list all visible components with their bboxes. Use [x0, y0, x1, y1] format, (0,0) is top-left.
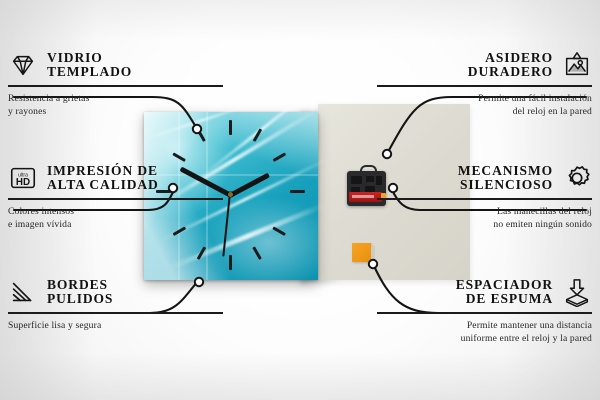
feature-title-line: DE ESPUMA	[456, 292, 553, 306]
feature-impresion-alta-calidad: ultra HD IMPRESIÓN DE ALTA CALIDAD Color…	[8, 163, 223, 231]
hanging-frame-icon	[562, 50, 592, 80]
feature-title-line: ESPACIADOR	[456, 278, 553, 292]
feature-asidero-duradero: ASIDERO DURADERO Permite una fácil insta…	[377, 50, 592, 118]
arrow-onto-pad-icon	[562, 277, 592, 307]
divider	[8, 312, 223, 314]
connector-dot-vidrio	[193, 125, 201, 133]
divider	[8, 85, 223, 87]
connector-dot-espaciador	[369, 260, 377, 268]
divider	[377, 85, 592, 87]
feature-description: Permite mantener una distancia uniforme …	[377, 319, 592, 345]
feature-title-line: TEMPLADO	[47, 65, 132, 79]
feature-mecanismo-silencioso: MECANISMO SILENCIOSO Las manecillas del …	[377, 163, 592, 231]
feature-title-line: PULIDOS	[47, 292, 113, 306]
feature-vidrio-templado: VIDRIO TEMPLADO Resistencia a grietas y …	[8, 50, 223, 118]
feature-description: Superficie lisa y segura	[8, 319, 223, 332]
feature-title-line: BORDES	[47, 278, 113, 292]
divider	[377, 312, 592, 314]
feature-description: Resistencia a grietas y rayones	[8, 92, 223, 118]
polished-edges-icon	[8, 277, 38, 307]
connector-dot-asidero	[383, 150, 391, 158]
feature-description: Permite una fácil instalación del reloj …	[377, 92, 592, 118]
divider	[8, 198, 223, 200]
divider	[377, 198, 592, 200]
infographic-canvas: VIDRIO TEMPLADO Resistencia a grietas y …	[0, 0, 600, 400]
feature-title-line: MECANISMO	[458, 164, 553, 178]
gear-icon	[562, 163, 592, 193]
diamond-icon	[8, 50, 38, 80]
feature-title-line: IMPRESIÓN DE	[47, 164, 159, 178]
feature-title-line: ASIDERO	[468, 51, 553, 65]
feature-espaciador-espuma: ESPACIADOR DE ESPUMA Permite mantener un…	[377, 277, 592, 345]
ultra-hd-large-text: HD	[16, 177, 30, 188]
feature-title-line: ALTA CALIDAD	[47, 178, 159, 192]
feature-title-line: VIDRIO	[47, 51, 132, 65]
feature-description: Colores intensos e imagen vívida	[8, 205, 223, 231]
feature-description: Las manecillas del reloj no emiten ningú…	[377, 205, 592, 231]
feature-title-line: SILENCIOSO	[458, 178, 553, 192]
feature-bordes-pulidos: BORDES PULIDOS Superficie lisa y segura	[8, 277, 223, 332]
ultra-hd-icon: ultra HD	[8, 163, 38, 193]
feature-title-line: DURADERO	[468, 65, 553, 79]
